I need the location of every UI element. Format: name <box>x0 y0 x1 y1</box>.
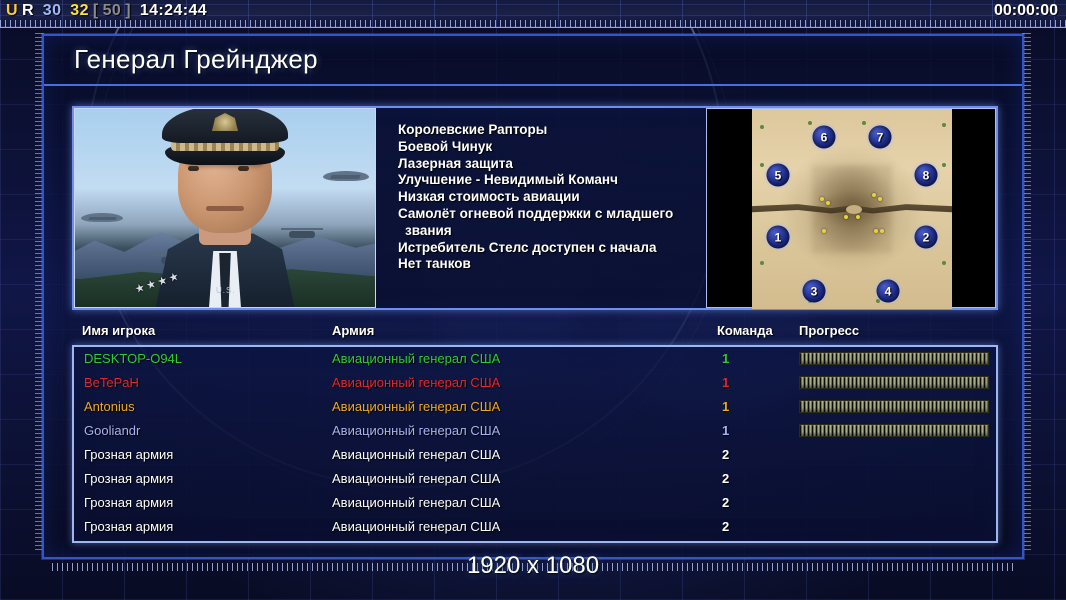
player-team: 1 <box>722 371 729 395</box>
column-header-name: Имя игрока <box>82 323 155 338</box>
panel-title-bar: Генерал Грейнджер <box>44 36 1022 86</box>
ability-line: Истребитель Стелс доступен с начала <box>398 240 698 257</box>
player-team: 2 <box>722 443 729 467</box>
map-start-position-5[interactable]: 5 <box>767 164 790 187</box>
screen-root: UR 30 32[50] 14:24:44 00:00:00 Генерал Г… <box>0 0 1066 600</box>
status-left-group: UR 30 32[50] 14:24:44 <box>6 2 211 20</box>
general-abilities-list: Королевские РапторыБоевой ЧинукЛазерная … <box>376 108 706 308</box>
map-start-position-2[interactable]: 2 <box>915 226 938 249</box>
table-row[interactable]: DESKTOP-O94LАвиационный генерал США1 <box>74 347 996 371</box>
ability-line: Нет танков <box>398 256 698 273</box>
table-row[interactable]: BeTePaHАвиационный генерал США1 <box>74 371 996 395</box>
player-name: Грозная армия <box>84 443 173 467</box>
column-header-army: Армия <box>332 323 374 338</box>
map-center-island <box>846 205 862 214</box>
ability-line: Низкая стоимость авиации <box>398 189 698 206</box>
table-row[interactable]: Грозная армияАвиационный генерал США2 <box>74 515 996 539</box>
general-summary-box: ★★★★ U.S. Королевские РапторыБоевой Чину… <box>72 106 998 310</box>
map-resource-node <box>872 193 876 197</box>
table-row[interactable]: AntoniusАвиационный генерал США1 <box>74 395 996 419</box>
status-clock: 14:24:44 <box>140 2 207 19</box>
player-name: Antonius <box>84 395 135 419</box>
player-team: 2 <box>722 467 729 491</box>
map-resource-node <box>826 201 830 205</box>
player-team: 1 <box>722 419 729 443</box>
map-tree <box>760 261 764 265</box>
map-preview[interactable]: 12345678 <box>706 108 996 308</box>
map-tree <box>942 261 946 265</box>
map-resource-node <box>878 197 882 201</box>
ability-line: Улучшение - Невидимый Команч <box>398 172 698 189</box>
map-resource-node <box>880 229 884 233</box>
map-tree <box>942 163 946 167</box>
progress-bar <box>799 424 989 437</box>
map-start-position-8[interactable]: 8 <box>915 164 938 187</box>
player-progress <box>799 400 989 413</box>
map-start-position-3[interactable]: 3 <box>803 280 826 303</box>
table-row[interactable]: Грозная армияАвиационный генерал США2 <box>74 491 996 515</box>
table-row[interactable]: Грозная армияАвиационный генерал США2 <box>74 443 996 467</box>
map-resource-node <box>856 215 860 219</box>
player-team: 1 <box>722 347 729 371</box>
player-army: Авиационный генерал США <box>332 419 500 443</box>
officer-figure: ★★★★ U.S. <box>120 127 330 307</box>
ability-line: звания <box>398 223 698 240</box>
ability-line: Самолёт огневой поддержки с младшего <box>398 206 698 223</box>
ability-line: Боевой Чинук <box>398 139 698 156</box>
map-resource-node <box>820 197 824 201</box>
player-team: 2 <box>722 515 729 539</box>
status-bracket-open: [ <box>93 2 99 19</box>
player-name: BeTePaH <box>84 371 139 395</box>
player-name: Gooliandr <box>84 419 140 443</box>
player-army: Авиационный генерал США <box>332 371 500 395</box>
player-progress <box>799 352 989 365</box>
player-team: 2 <box>722 491 729 515</box>
status-u-label: U <box>6 2 18 19</box>
player-progress <box>799 376 989 389</box>
general-info-panel: Генерал Грейнджер <box>42 34 1024 559</box>
map-tree <box>760 163 764 167</box>
officer-us-insignia: U.S. <box>216 286 236 295</box>
map-image: 12345678 <box>752 109 952 309</box>
progress-bar <box>799 376 989 389</box>
player-army: Авиационный генерал США <box>332 491 500 515</box>
player-army: Авиационный генерал США <box>332 443 500 467</box>
map-resource-node <box>844 215 848 219</box>
table-row[interactable]: GooliandrАвиационный генерал США1 <box>74 419 996 443</box>
aircraft-icon <box>81 213 123 222</box>
map-tree <box>808 121 812 125</box>
status-value-50: 50 <box>103 2 122 19</box>
progress-bar <box>799 352 989 365</box>
page-title: Генерал Грейнджер <box>74 44 318 75</box>
player-name: Грозная армия <box>84 467 173 491</box>
player-army: Авиационный генерал США <box>332 395 500 419</box>
map-resource-node <box>822 229 826 233</box>
player-progress <box>799 424 989 437</box>
top-status-bar: UR 30 32[50] 14:24:44 00:00:00 <box>0 0 1066 28</box>
map-tree <box>862 121 866 125</box>
player-table-body: DESKTOP-O94LАвиационный генерал США1BeTe… <box>72 345 998 543</box>
status-bracket-close: ] <box>125 2 131 19</box>
player-army: Авиационный генерал США <box>332 347 500 371</box>
ability-line: Королевские Рапторы <box>398 122 698 139</box>
map-start-position-1[interactable]: 1 <box>767 226 790 249</box>
table-row[interactable]: Грозная армияАвиационный генерал США2 <box>74 467 996 491</box>
ability-line: Лазерная защита <box>398 156 698 173</box>
map-tree <box>760 125 764 129</box>
player-name: Грозная армия <box>84 491 173 515</box>
map-start-position-4[interactable]: 4 <box>877 280 900 303</box>
player-army: Авиационный генерал США <box>332 515 500 539</box>
general-portrait: ★★★★ U.S. <box>74 108 376 308</box>
status-value-30: 30 <box>43 2 62 19</box>
map-tree <box>942 123 946 127</box>
officer-mouth <box>206 206 244 211</box>
status-timer: 00:00:00 <box>994 2 1058 20</box>
column-header-team: Команда <box>717 323 773 338</box>
player-name: Грозная армия <box>84 515 173 539</box>
progress-bar <box>799 400 989 413</box>
map-start-position-6[interactable]: 6 <box>813 126 836 149</box>
player-team: 1 <box>722 395 729 419</box>
status-r-label: R <box>22 2 34 19</box>
player-army: Авиационный генерал США <box>332 467 500 491</box>
map-resource-node <box>874 229 878 233</box>
player-name: DESKTOP-O94L <box>84 347 182 371</box>
column-header-progress: Прогресс <box>799 323 859 338</box>
map-start-position-7[interactable]: 7 <box>869 126 892 149</box>
status-value-32: 32 <box>70 2 89 19</box>
player-table-header: Имя игрока Армия Команда Прогресс <box>74 323 999 345</box>
resolution-label: 1920 x 1080 <box>0 552 1066 580</box>
